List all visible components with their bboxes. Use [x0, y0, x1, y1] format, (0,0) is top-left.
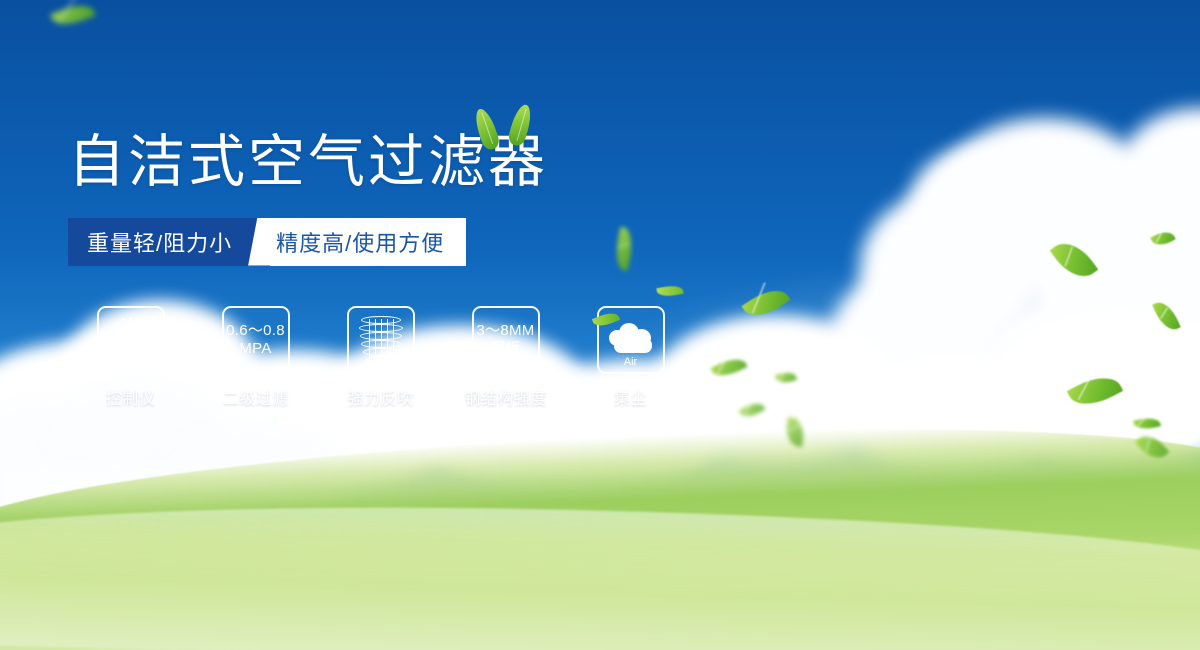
subtitle-badge-dark: 重量轻/阻力小 [68, 218, 249, 266]
subtitle-badge-light: 精度高/使用方便 [270, 218, 466, 266]
dial-pointer [126, 324, 135, 356]
page-title: 自洁式空气过滤器 [68, 132, 748, 194]
feature-icon-box: Air [597, 306, 665, 374]
feature-caption: 控制仪 [106, 385, 156, 409]
title-leaf-decoration [472, 100, 544, 152]
feature-caption: 集尘 [614, 385, 647, 409]
leaf-icon [591, 309, 619, 329]
dial-label-off: OFF [146, 352, 160, 359]
feature-item[interactable]: Air 集尘 [568, 306, 693, 409]
pressure-value-line1: 0.6～0.8 [226, 322, 285, 340]
feature-item[interactable]: NO OFF 控制仪 [68, 306, 193, 409]
filter-coil-icon [358, 316, 404, 364]
feature-item[interactable]: 强力反吹 [318, 306, 443, 409]
feature-caption: 强力反吹 [347, 385, 413, 409]
leaf-icon [656, 283, 683, 297]
feature-list: NO OFF 控制仪 0.6～0.8 MPA 二级过滤 [68, 306, 748, 409]
air-cloud-icon: Air [605, 318, 657, 362]
feature-icon-box: 0.6～0.8 MPA [222, 306, 290, 374]
feature-item[interactable]: 0.6～0.8 MPA 二级过滤 [193, 306, 318, 409]
subtitle-divider [248, 218, 270, 266]
leaf-icon [507, 102, 535, 147]
feature-icon-box: NO OFF [97, 306, 165, 374]
leaf-icon [472, 106, 502, 151]
pressure-value-line2: MPA [239, 340, 271, 358]
subtitle-badges: 重量轻/阻力小 精度高/使用方便 [68, 218, 466, 266]
steel-value-line2: 钢板 [490, 340, 521, 358]
feature-icon-box: 3～8MM 钢板 [472, 306, 540, 374]
feature-icon-box [347, 306, 415, 374]
banner-content: 自洁式空气过滤器 重量轻/阻力小 精度高/使用方便 [68, 132, 748, 409]
dial-label-no: NO [100, 338, 111, 345]
feature-caption: 钢结构强度 [464, 385, 547, 409]
product-banner: 自洁式空气过滤器 重量轻/阻力小 精度高/使用方便 [0, 0, 1200, 650]
steel-value-line1: 3～8MM [476, 322, 534, 340]
control-dial-icon: NO OFF [102, 314, 160, 366]
feature-caption: 二级过滤 [222, 385, 288, 409]
air-label: Air [605, 356, 657, 368]
feature-item[interactable]: 3～8MM 钢板 钢结构强度 [443, 306, 568, 409]
